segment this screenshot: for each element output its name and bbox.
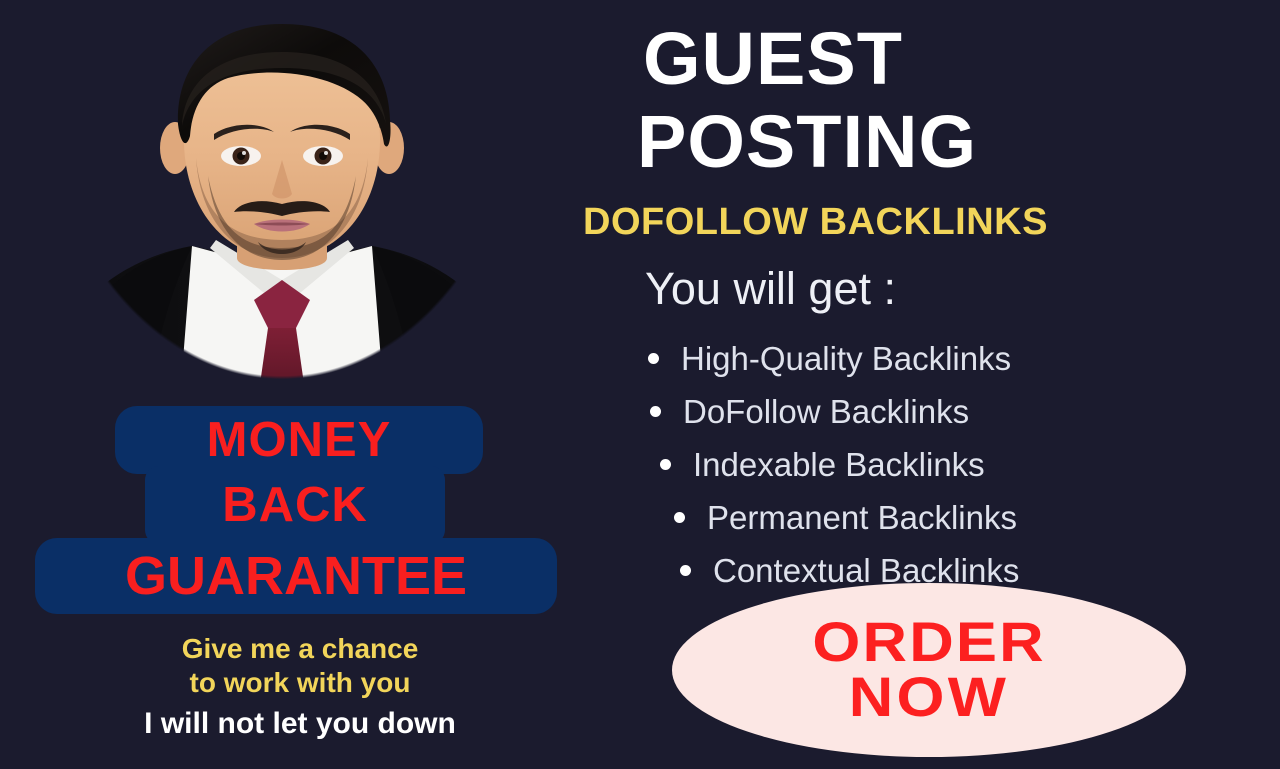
- benefit-label: Permanent Backlinks: [707, 499, 1017, 537]
- badge-bar-money: MONEY: [115, 406, 483, 474]
- bullet-dot-icon: [648, 353, 659, 364]
- badge-bar-guarantee: GUARANTEE: [35, 538, 557, 614]
- tagline-line-2: to work with you: [0, 666, 600, 700]
- order-now-label-line2: NOW: [849, 670, 1009, 725]
- list-item: Indexable Backlinks: [660, 438, 1019, 491]
- promo-poster: MONEY BACK GUARANTEE Give me a chance to…: [0, 0, 1280, 769]
- badge-label-money: MONEY: [207, 416, 392, 465]
- subheadline-dofollow-backlinks: DOFOLLOW BACKLINKS: [583, 203, 1048, 241]
- offer-lead-in: You will get :: [645, 266, 896, 311]
- list-item: DoFollow Backlinks: [650, 385, 1019, 438]
- money-back-guarantee-badge: MONEY BACK GUARANTEE: [0, 404, 600, 619]
- order-now-label-line1: ORDER: [812, 615, 1045, 670]
- portrait-photo: [32, 8, 532, 398]
- benefit-label: DoFollow Backlinks: [683, 393, 969, 431]
- bullet-dot-icon: [674, 512, 685, 523]
- tagline-line-3: I will not let you down: [0, 706, 600, 743]
- list-item: High-Quality Backlinks: [648, 332, 1019, 385]
- tagline-line-1: Give me a chance: [0, 632, 600, 666]
- badge-label-guarantee: GUARANTEE: [125, 549, 467, 603]
- headline-guest: GUEST: [643, 22, 903, 96]
- badge-label-back: BACK: [222, 481, 368, 530]
- headline-posting: POSTING: [637, 105, 977, 179]
- tagline-block: Give me a chance to work with you I will…: [0, 632, 600, 743]
- portrait-clip: [32, 8, 532, 398]
- badge-bar-back: BACK: [145, 466, 445, 544]
- benefit-label: Indexable Backlinks: [693, 446, 985, 484]
- bullet-dot-icon: [650, 406, 661, 417]
- bullet-dot-icon: [660, 459, 671, 470]
- benefits-list: High-Quality Backlinks DoFollow Backlink…: [648, 332, 1019, 597]
- order-now-button[interactable]: ORDER NOW: [672, 583, 1186, 757]
- portrait-illustration: [32, 8, 532, 398]
- list-item: Permanent Backlinks: [674, 491, 1019, 544]
- bullet-dot-icon: [680, 565, 691, 576]
- benefit-label: High-Quality Backlinks: [681, 340, 1011, 378]
